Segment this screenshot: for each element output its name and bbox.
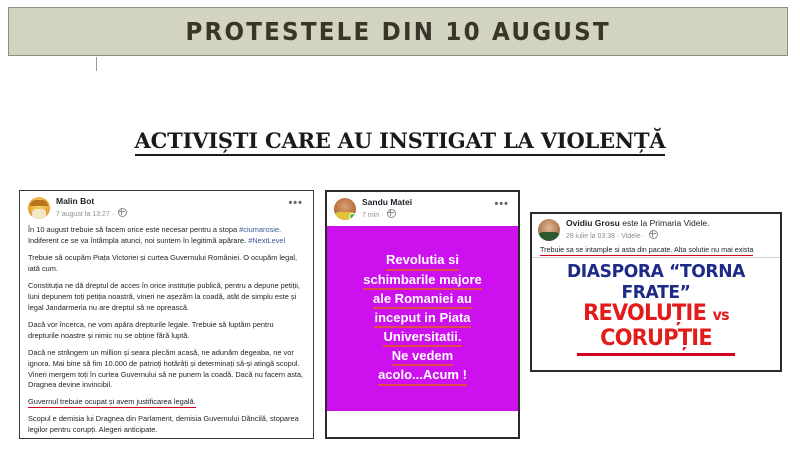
post-author-name[interactable]: Sandu Matei bbox=[362, 198, 412, 207]
slide-title-banner: PROTESTELE DIN 10 AUGUST bbox=[8, 7, 788, 56]
title-decorative-stem bbox=[96, 57, 97, 71]
post-paragraph-highlighted: Guvernul trebuie ocupat și avem justific… bbox=[28, 397, 305, 408]
hashtag-link[interactable]: #NextLevel bbox=[248, 236, 285, 245]
post-paragraph: Trebuie să ocupăm Piața Victoriei și cur… bbox=[28, 253, 305, 275]
slide-subtitle-wrap: ACTIVIȘTI CARE AU INSTIGAT LA VIOLENȚĂ bbox=[0, 128, 800, 153]
post-paragraph: Scopul e demisia lui Dragnea din Parlame… bbox=[28, 414, 305, 436]
image-text-line: ale Romaniei au bbox=[373, 290, 472, 309]
banner-underline bbox=[577, 353, 736, 356]
banner-word-revolutie: REVOLUȚIE bbox=[583, 301, 706, 326]
banner-word-coruptie: CORUPȚIE bbox=[600, 326, 712, 351]
post-timestamp[interactable]: 28 iulie la 03:38 bbox=[566, 233, 615, 240]
post-author-block: Ovidiu Grosu este la Primaria Videle. 28… bbox=[566, 219, 709, 241]
post-paragraph: Constituția ne dă dreptul de acces în or… bbox=[28, 281, 305, 314]
post-author-block: Malin Bot 7 august la 13:27 · bbox=[56, 197, 127, 219]
image-text-line: Ne vedem bbox=[392, 347, 453, 366]
banner-line-1: DIASPORA “TORNA FRATE” bbox=[538, 261, 774, 303]
post-image-text: Revolutia si schimbarile majore ale Roma… bbox=[357, 251, 488, 385]
facebook-post-card-3: Ovidiu Grosu este la Primaria Videle. 28… bbox=[530, 212, 782, 372]
online-status-icon bbox=[349, 213, 356, 220]
post-image-magenta: Revolutia si schimbarile majore ale Roma… bbox=[327, 226, 518, 411]
post-meta: 7 min · bbox=[362, 209, 412, 220]
post-meta: 7 august la 13:27 · bbox=[56, 208, 127, 219]
facebook-post-card-2: Sandu Matei 7 min · ••• Revolutia si sch… bbox=[325, 190, 520, 439]
post-timestamp[interactable]: 7 min bbox=[362, 212, 379, 219]
banner-line-2: REVOLUȚIE vs CORUPȚIE bbox=[538, 301, 774, 351]
post-location[interactable]: Videle bbox=[621, 233, 640, 240]
slide-title: PROTESTELE DIN 10 AUGUST bbox=[185, 17, 610, 46]
image-text-line: schimbarile majore bbox=[363, 271, 482, 290]
post-header: Sandu Matei 7 min · ••• bbox=[334, 198, 511, 220]
more-options-icon[interactable]: ••• bbox=[288, 199, 303, 207]
avatar-malin-bot[interactable] bbox=[28, 197, 50, 219]
post-paragraph: În 10 august trebuie să facem orice este… bbox=[28, 225, 305, 247]
globe-icon bbox=[387, 209, 396, 218]
image-text-line: inceput in Piata bbox=[374, 309, 470, 328]
post-timestamp[interactable]: 7 august la 13:27 bbox=[56, 211, 110, 218]
post-image-banner: DIASPORA “TORNA FRATE” REVOLUȚIE vs CORU… bbox=[532, 257, 780, 362]
more-options-icon[interactable]: ••• bbox=[494, 200, 509, 208]
post-author-name[interactable]: Ovidiu Grosu este la Primaria Videle. bbox=[566, 219, 709, 228]
post-author-suffix: este la Primaria Videle. bbox=[622, 218, 709, 228]
post-paragraph: Dacă ne strângem un million și seara ple… bbox=[28, 348, 305, 392]
image-text-line: acolo...Acum ! bbox=[378, 366, 467, 385]
slide-subtitle: ACTIVIȘTI CARE AU INSTIGAT LA VIOLENȚĂ bbox=[135, 128, 666, 156]
post-author-block: Sandu Matei 7 min · bbox=[362, 198, 412, 220]
post-paragraph: Dacă vor încerca, ne vom apăra drepturil… bbox=[28, 320, 305, 342]
post-caption: Trebuie sa se intample si asta din pacat… bbox=[538, 241, 774, 257]
globe-icon bbox=[118, 208, 127, 217]
hashtag-link[interactable]: #ciumarosie bbox=[239, 225, 279, 234]
globe-icon bbox=[649, 230, 658, 239]
post-meta: 28 iulie la 03:38 · Videle · bbox=[566, 230, 709, 241]
post-header: Malin Bot 7 august la 13:27 · ••• bbox=[28, 197, 305, 219]
avatar-sandu-matei[interactable] bbox=[334, 198, 356, 220]
post-body: În 10 august trebuie să facem orice este… bbox=[28, 225, 305, 436]
banner-word-vs: vs bbox=[713, 306, 729, 324]
facebook-post-card-1: Malin Bot 7 august la 13:27 · ••• În 10 … bbox=[19, 190, 314, 439]
post-header: Ovidiu Grosu este la Primaria Videle. 28… bbox=[538, 219, 774, 241]
avatar-ovidiu-grosu[interactable] bbox=[538, 219, 560, 241]
image-text-line: Universitatii. bbox=[383, 328, 461, 347]
image-text-line: Revolutia si bbox=[386, 251, 459, 270]
post-author-name[interactable]: Malin Bot bbox=[56, 197, 127, 206]
